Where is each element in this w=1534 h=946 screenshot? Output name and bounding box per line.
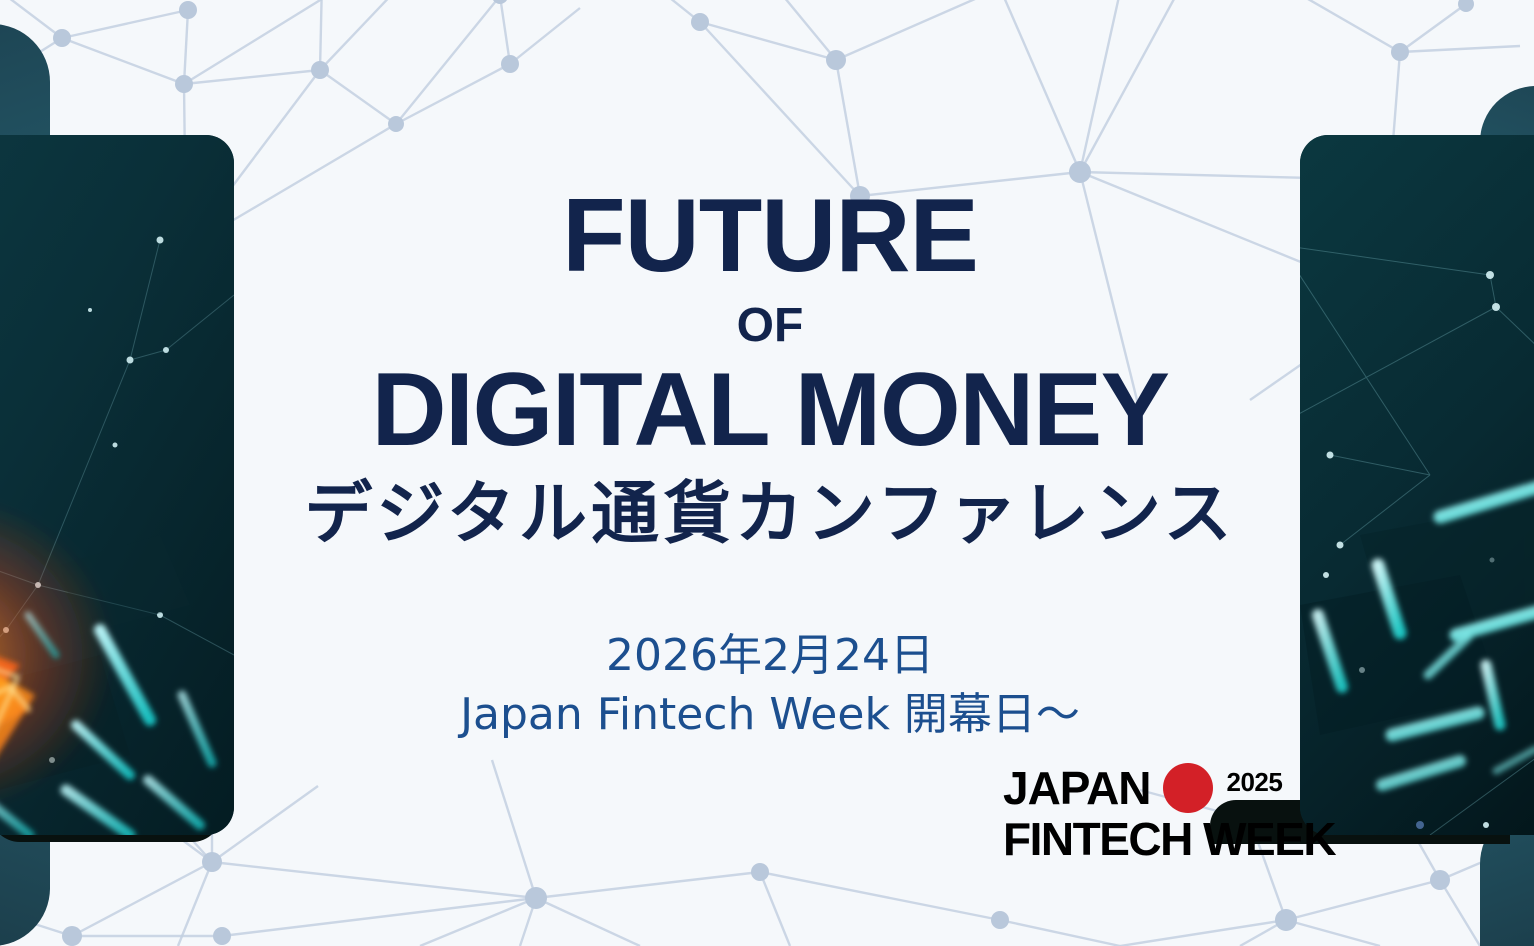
japan-flag-circle-icon <box>1163 763 1213 813</box>
left-image-panel <box>0 135 234 835</box>
poster-canvas: .nl { stroke:#c3d0e0; stroke-width:2.4; … <box>0 0 1534 946</box>
logo-top-row: JAPAN 2025 <box>1003 762 1293 814</box>
right-panel-artwork <box>1300 135 1534 835</box>
logo-word-japan: JAPAN <box>1003 765 1151 811</box>
right-image-panel <box>1300 135 1534 835</box>
title-line-of: OF <box>234 296 1306 356</box>
corner-decor-top-right <box>1480 86 1534 142</box>
logo-year: 2025 <box>1227 769 1283 795</box>
title-line-digital-money: DIGITAL MONEY <box>234 358 1306 462</box>
event-title-block: FUTURE OF DIGITAL MONEY デジタル通貨カンファレンス <box>234 186 1306 554</box>
event-date-note: Japan Fintech Week 開幕日〜 <box>234 687 1306 742</box>
corner-decor-top-left <box>0 24 50 136</box>
title-subtitle-japanese: デジタル通貨カンファレンス <box>234 476 1306 554</box>
event-date: 2026年2月24日 <box>234 630 1306 683</box>
japan-fintech-week-logo: JAPAN 2025 FINTECH WEEK <box>1003 762 1293 868</box>
title-line-future: FUTURE <box>234 186 1306 288</box>
event-date-block: 2026年2月24日 Japan Fintech Week 開幕日〜 <box>234 630 1306 742</box>
logo-word-fintech-week: FINTECH WEEK <box>1003 816 1293 862</box>
left-panel-artwork <box>0 135 234 835</box>
